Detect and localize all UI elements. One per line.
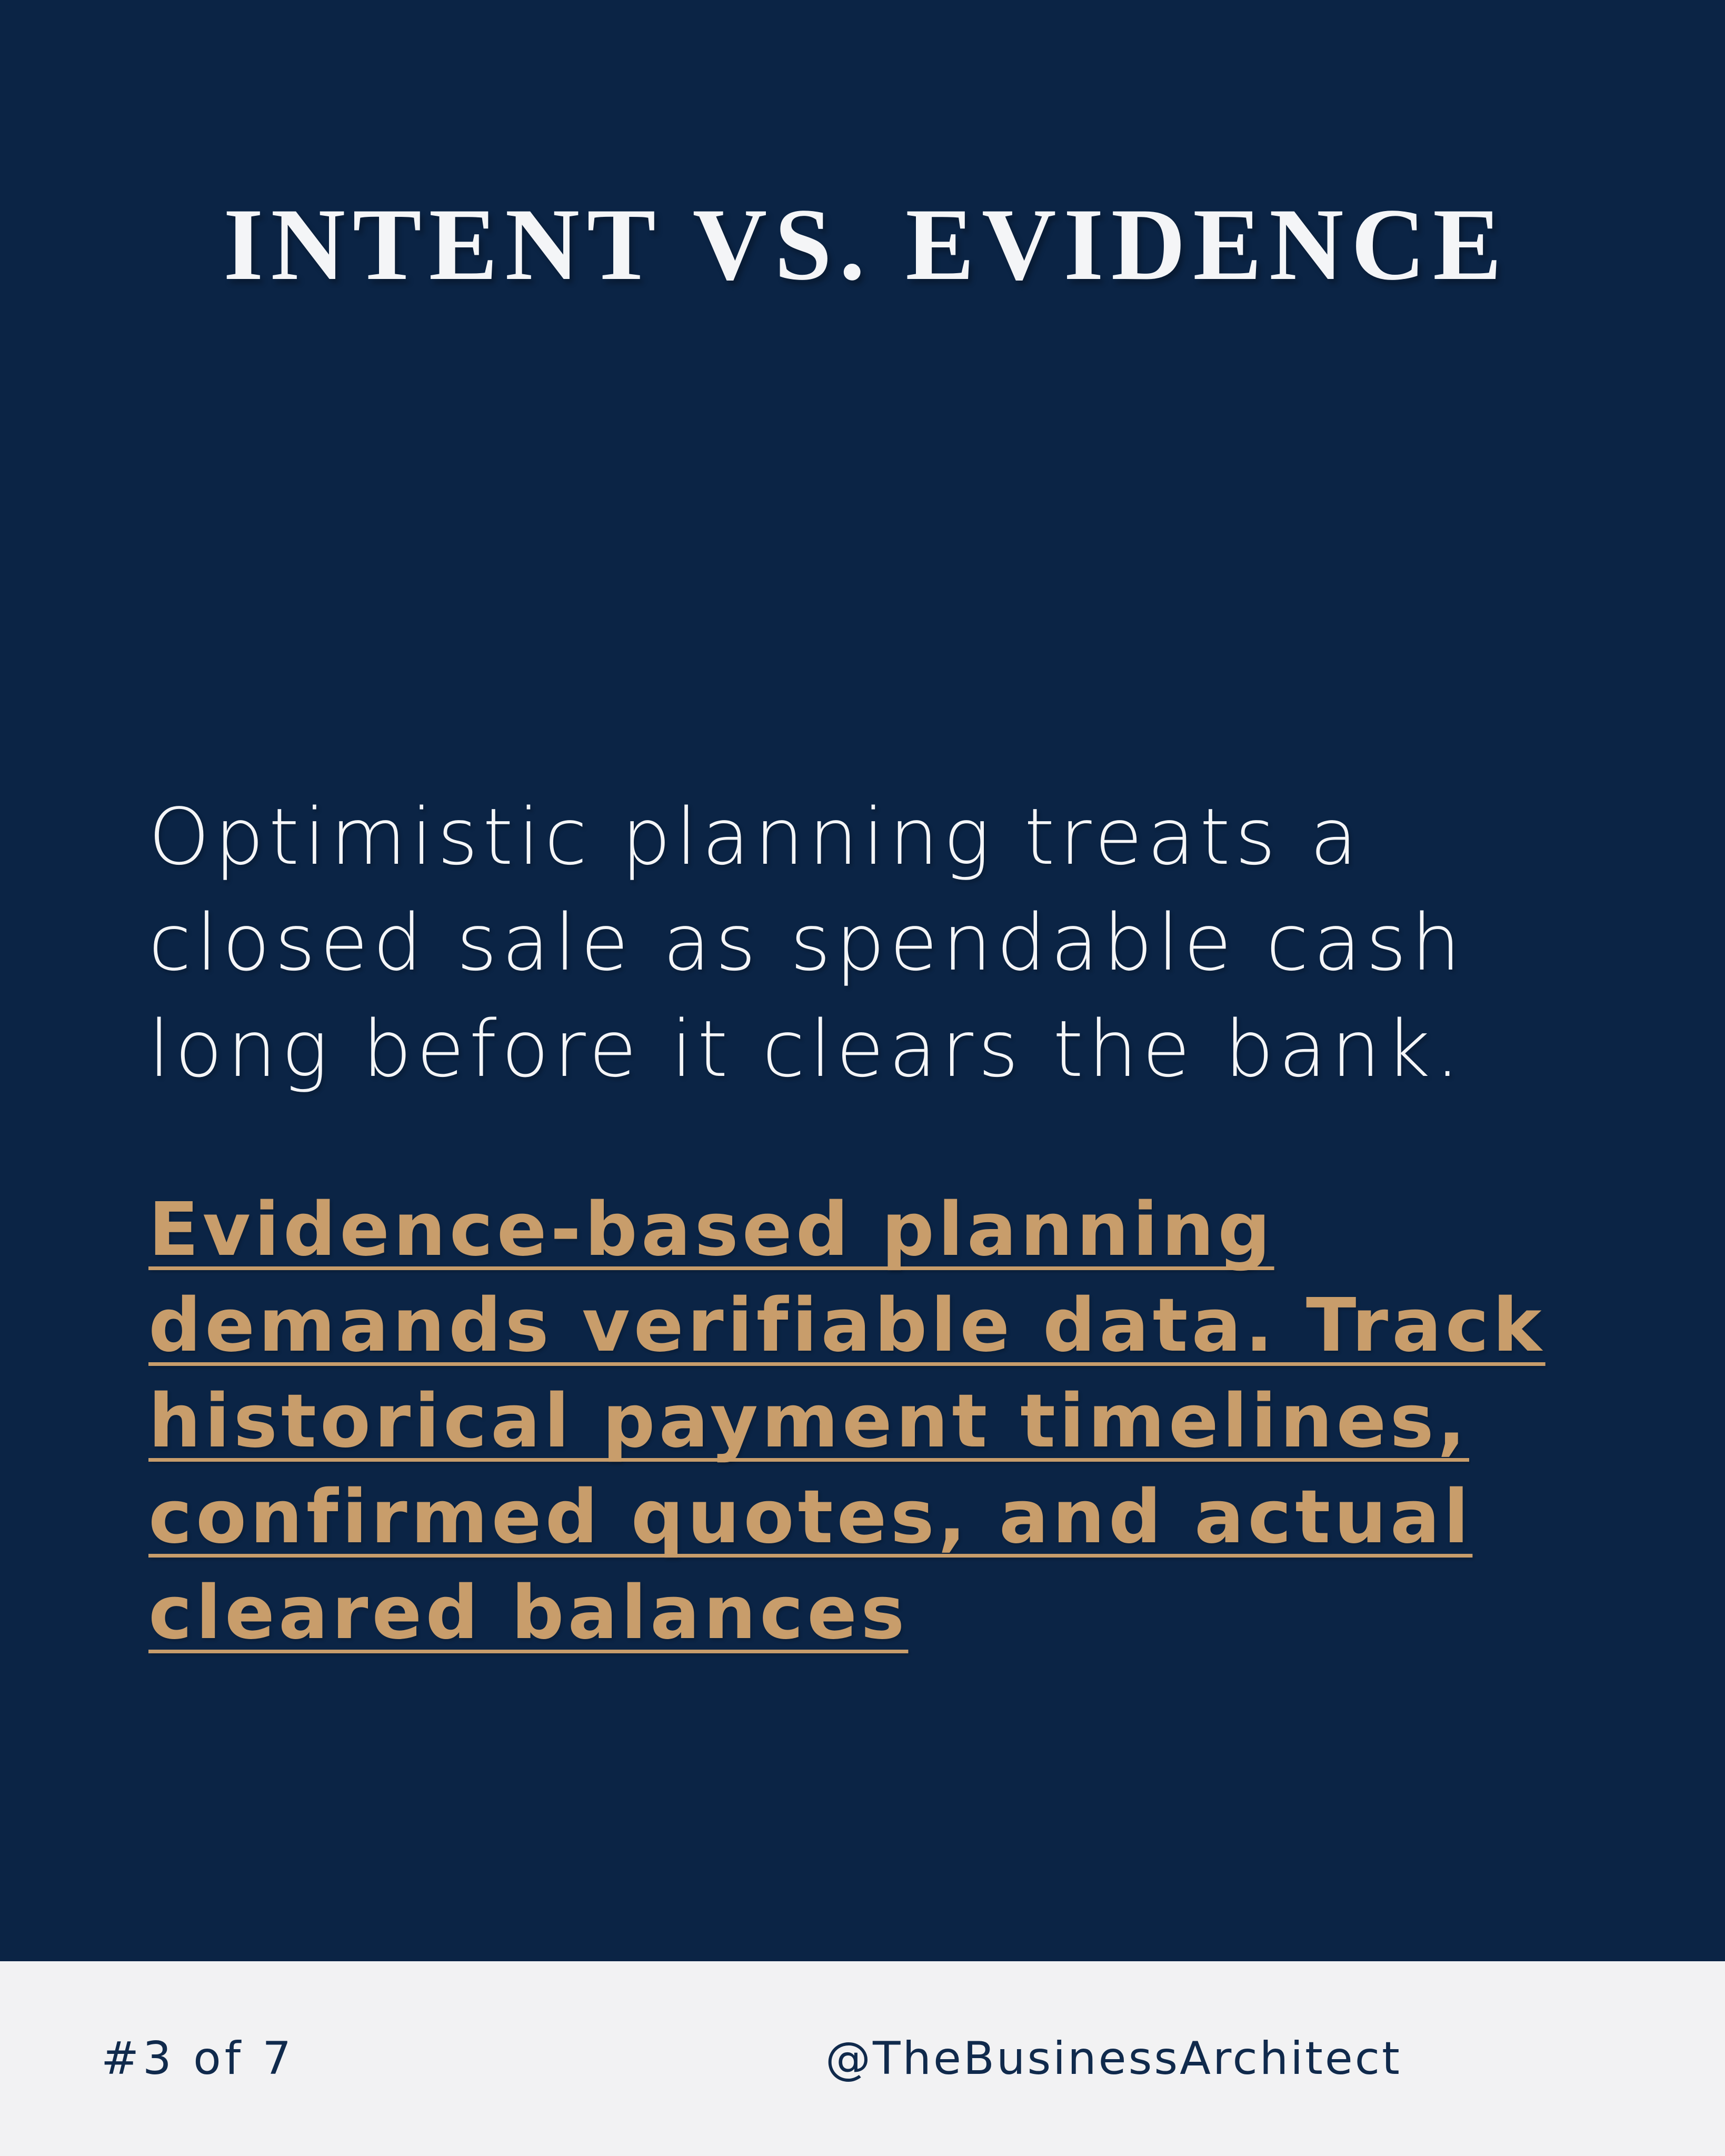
author-handle: @TheBusinessArchitect xyxy=(825,2032,1402,2085)
page-counter: #3 of 7 xyxy=(101,2032,295,2085)
evidence-paragraph: Evidence-based planning demands verifiab… xyxy=(148,1182,1633,1661)
slide-card: INTENT VS. EVIDENCE Optimistic planning … xyxy=(0,0,1725,1961)
page-title: INTENT VS. EVIDENCE xyxy=(0,193,1725,296)
slide-footer: #3 of 7 @TheBusinessArchitect xyxy=(0,1961,1725,2156)
slide-body: Optimistic planning treats a closed sale… xyxy=(148,784,1633,1661)
footer-inner: #3 of 7 @TheBusinessArchitect xyxy=(0,1961,1725,2156)
carousel-slide: INTENT VS. EVIDENCE Optimistic planning … xyxy=(0,0,1725,2156)
lede-paragraph: Optimistic planning treats a closed sale… xyxy=(148,784,1633,1102)
